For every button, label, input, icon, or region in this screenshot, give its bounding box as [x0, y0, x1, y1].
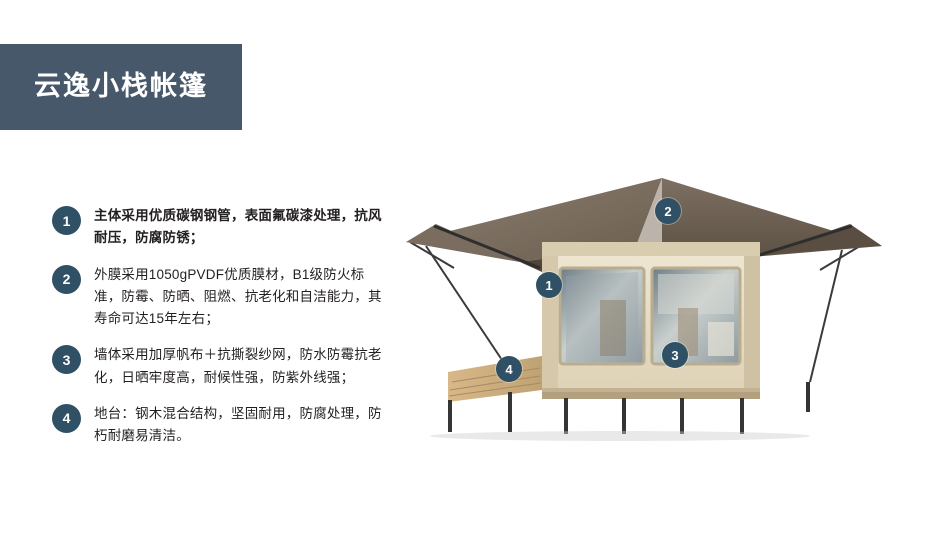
image-marker-2: 2 [655, 198, 681, 224]
tent-drawing [390, 150, 950, 450]
feature-text-3: 墙体采用加厚帆布＋抗撕裂纱网，防水防霉抗老化，日晒牢度高，耐候性强，防紫外线强； [94, 344, 382, 389]
list-item: 2 外膜采用1050gPVDF优质膜材，B1级防火标准，防霉、防晒、阻燃、抗老化… [52, 264, 382, 331]
feature-badge-3: 3 [52, 345, 81, 374]
list-item: 3 墙体采用加厚帆布＋抗撕裂纱网，防水防霉抗老化，日晒牢度高，耐候性强，防紫外线… [52, 344, 382, 389]
title-block: 云逸小栈帐篷 [0, 44, 242, 130]
list-item: 1 主体采用优质碳钢钢管，表面氟碳漆处理，抗风耐压，防腐防锈； [52, 205, 382, 250]
feature-badge-1: 1 [52, 206, 81, 235]
window-left [560, 268, 644, 364]
image-marker-3: 3 [662, 342, 688, 368]
feature-text-2: 外膜采用1050gPVDF优质膜材，B1级防火标准，防霉、防晒、阻燃、抗老化和自… [94, 264, 382, 331]
image-marker-1: 1 [536, 272, 562, 298]
list-item: 4 地台：钢木混合结构，坚固耐用，防腐处理，防朽耐磨易清洁。 [52, 403, 382, 448]
feature-badge-2: 2 [52, 265, 81, 294]
feature-badge-4: 4 [52, 404, 81, 433]
feature-text-1: 主体采用优质碳钢钢管，表面氟碳漆处理，抗风耐压，防腐防锈； [94, 205, 382, 250]
image-marker-4: 4 [496, 356, 522, 382]
feature-text-4: 地台：钢木混合结构，坚固耐用，防腐处理，防朽耐磨易清洁。 [94, 403, 382, 448]
page-title: 云逸小栈帐篷 [34, 72, 208, 102]
ground-shadow [430, 431, 810, 441]
tent-illustration: 1 2 3 4 [390, 150, 950, 450]
feature-list: 1 主体采用优质碳钢钢管，表面氟碳漆处理，抗风耐压，防腐防锈； 2 外膜采用10… [52, 205, 382, 461]
